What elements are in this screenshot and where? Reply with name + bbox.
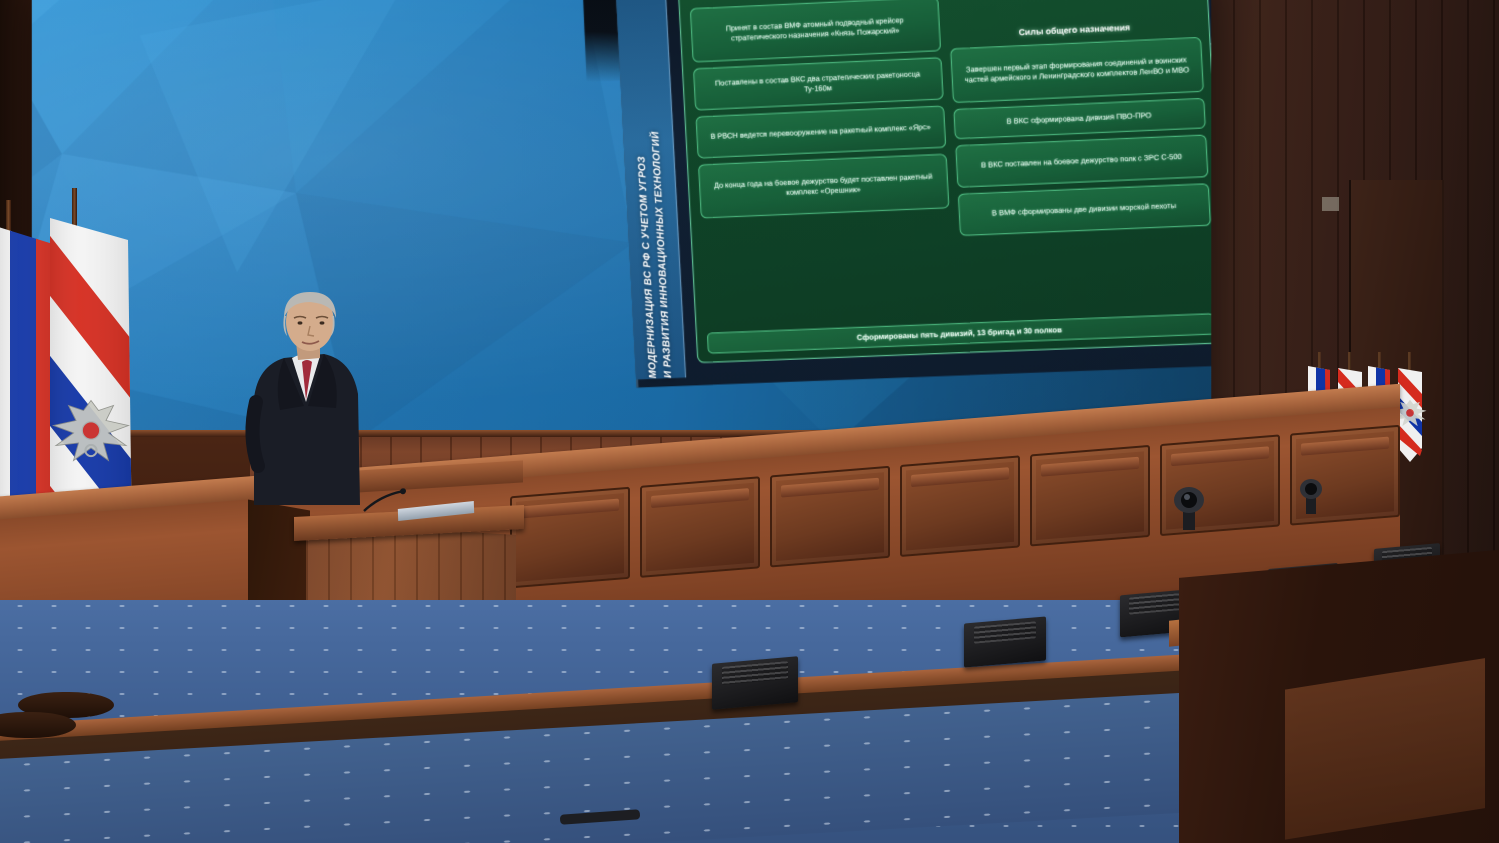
- table-panel: [1030, 445, 1150, 547]
- slide-item: Завершен первый этап формирования соедин…: [950, 37, 1204, 103]
- scene-root: Развитие Вооруженных Сил Российской Феде…: [0, 0, 1499, 843]
- slide-item: В РВСН ведется перевооружение на ракетны…: [696, 105, 946, 158]
- table-panel: [640, 476, 760, 578]
- slide-item: Принят в состав ВМФ атомный подводный кр…: [690, 0, 941, 62]
- foreground-desk-panel: [1285, 658, 1485, 839]
- slide-item: В ВКС поставлен на боевое дежурство полк…: [955, 134, 1209, 187]
- floor-monitor-speaker: [964, 616, 1046, 667]
- wall-sign: [1322, 197, 1339, 211]
- slide-item: В ВКС сформирована дивизия ПВО-ПРО: [953, 98, 1206, 139]
- foreground-desk: [1179, 549, 1499, 843]
- robotic-ptz-camera: [1172, 486, 1206, 530]
- slide-content-panel: Стратегические ядерные силы Принят в сос…: [677, 0, 1211, 363]
- slide-item: Поставлены в состав ВКС два стратегическ…: [693, 57, 943, 110]
- slide-item: До конца года на боевое дежурство будет …: [698, 154, 949, 219]
- table-panel: [510, 487, 630, 589]
- slide-column-general-purpose-forces: Силы общего назначения Завершен первый э…: [946, 0, 1211, 236]
- slide-vertical-banner-text: МОДЕРНИЗАЦИЯ ВС РФ С УЧЕТОМ УГРОЗ И РАЗВ…: [631, 97, 676, 379]
- led-video-wall: Развитие Вооруженных Сил Российской Феде…: [32, 0, 1211, 445]
- slide-item: В ВМФ сформированы две дивизии морской п…: [957, 183, 1211, 236]
- table-panel: [770, 466, 890, 568]
- presentation-slide: Развитие Вооруженных Сил Российской Феде…: [614, 0, 1211, 398]
- slide-column-strategic-nuclear-forces: Стратегические ядерные силы Принят в сос…: [689, 0, 951, 247]
- robotic-ptz-camera: [1298, 478, 1324, 514]
- slide-columns: Стратегические ядерные силы Принят в сос…: [689, 0, 1211, 247]
- table-panel: [900, 455, 1020, 557]
- floor-monitor-speaker: [712, 656, 798, 710]
- speaker-at-podium: [240, 290, 380, 500]
